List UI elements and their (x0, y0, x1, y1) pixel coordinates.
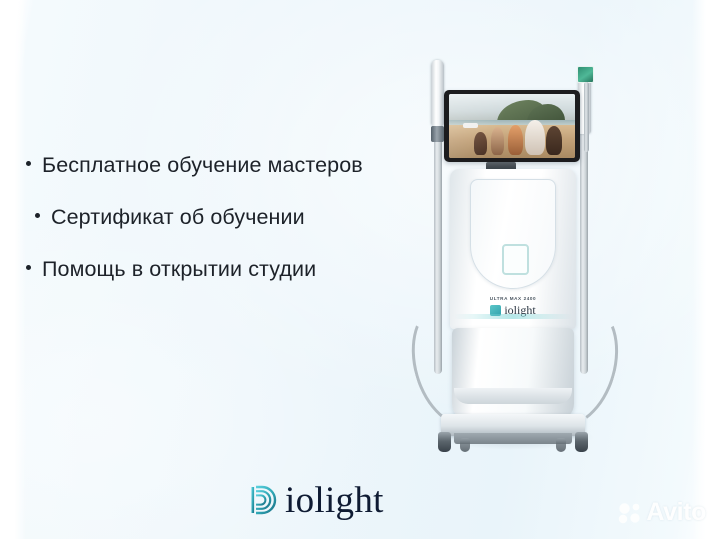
list-item-label: Сертификат об обучении (51, 204, 305, 230)
avito-logo-icon (617, 502, 643, 524)
panel-square-icon (502, 244, 529, 275)
list-item-label: Помощь в открытии студии (42, 256, 316, 282)
benefits-list: Бесплатное обучение мастеров Сертификат … (26, 152, 426, 308)
machine-lower-body (452, 328, 574, 420)
brand-logo: iolight (248, 477, 384, 521)
list-item: Помощь в открытии студии (26, 256, 426, 282)
diolight-d-mark-icon (248, 482, 284, 518)
machine-model-label: ULTRA MAX 2400 (463, 296, 563, 301)
machine-caster (460, 438, 470, 452)
avito-wordmark: Avito (646, 498, 706, 527)
handpiece-left (431, 60, 444, 126)
handpiece-left-tip-icon (431, 126, 444, 142)
machine-base-bar (454, 433, 572, 444)
brand-wordmark: iolight (285, 482, 384, 519)
machine-caster (556, 438, 566, 452)
promo-slide: Бесплатное обучение мастеров Сертификат … (0, 0, 720, 539)
laser-machine-illustration: ULTRA MAX 2400 iolight (408, 52, 618, 462)
bullet-dot-icon (26, 161, 31, 166)
handpiece-right-cord (584, 82, 589, 152)
machine-monitor (444, 90, 580, 162)
machine-body-lip (454, 388, 572, 404)
list-item-label: Бесплатное обучение мастеров (42, 152, 363, 178)
screen-glare (449, 94, 575, 158)
monitor-screen (449, 94, 575, 158)
background-edge-left (0, 0, 26, 539)
list-item: Сертификат об обучении (26, 204, 426, 230)
background-edge-right (692, 0, 720, 539)
bullet-dot-icon (35, 213, 40, 218)
machine-caster (438, 432, 451, 452)
machine-caster (575, 432, 588, 452)
list-item: Бесплатное обучение мастеров (26, 152, 426, 178)
bullet-dot-icon (26, 265, 31, 270)
avito-watermark: Avito (617, 498, 706, 527)
handpiece-right-tip-icon (577, 66, 594, 83)
